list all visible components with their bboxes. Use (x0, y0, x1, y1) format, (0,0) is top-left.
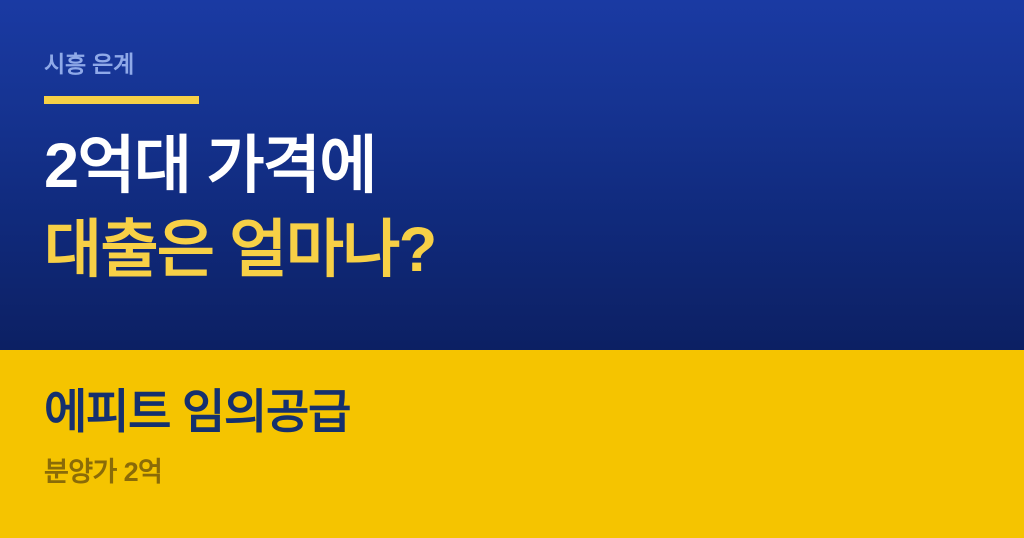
hero-panel: 시흥 은계 2억대 가격에 대출은 얼마나? (0, 0, 1024, 350)
hero-headline: 2억대 가격에 대출은 얼마나? (44, 124, 944, 292)
hero-eyebrow-location: 시흥 은계 (44, 50, 134, 79)
info-band: 에피트 임의공급 분양가 2억 (0, 350, 1024, 538)
accent-rule-divider (44, 96, 199, 104)
hero-content: 시흥 은계 2억대 가격에 대출은 얼마나? (44, 0, 944, 350)
info-band-content: 에피트 임의공급 분양가 2억 (44, 350, 944, 538)
project-price-subtitle: 분양가 2억 (44, 454, 162, 490)
headline-line-2: 대출은 얼마나? (44, 208, 944, 292)
headline-line-1: 2억대 가격에 (44, 124, 944, 208)
promo-card: 시흥 은계 2억대 가격에 대출은 얼마나? 에피트 임의공급 분양가 2억 (0, 0, 1024, 538)
project-name-title: 에피트 임의공급 (44, 382, 350, 442)
